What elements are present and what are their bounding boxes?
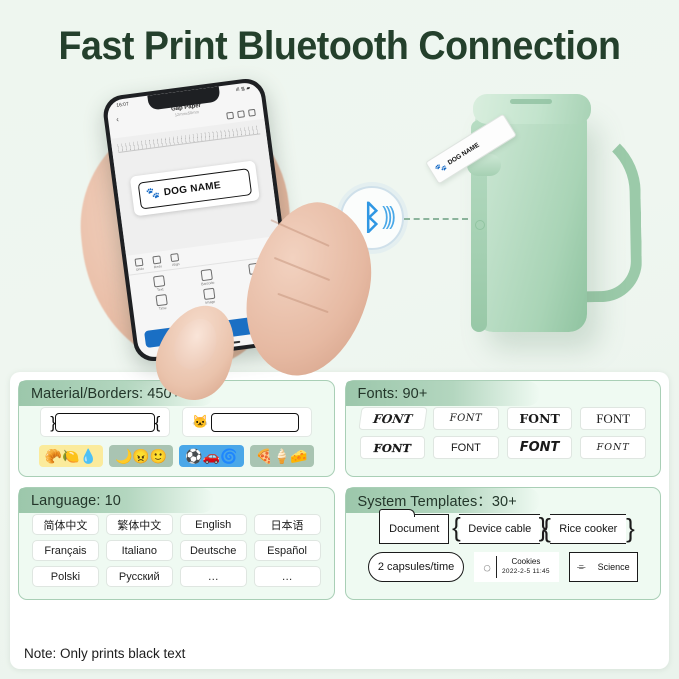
border-sample-row: } { 🐱 (29, 407, 324, 437)
swatch-emoji-sage[interactable]: 🌙😠🙂 (109, 445, 173, 467)
bluetooth-icon: ᛒ (362, 201, 382, 235)
undo-icon (135, 258, 144, 267)
tool-time[interactable]: Time (139, 292, 186, 314)
template-science[interactable]: ⌯ Science (569, 552, 638, 582)
language-chip[interactable]: Italiano (106, 540, 173, 561)
panel-header: Language: 10 (19, 488, 214, 513)
label-printer: 🐾 DOG NAME (455, 80, 675, 380)
language-chip[interactable]: 简体中文 (32, 514, 99, 535)
icon-swatch-row: 🥐🍋💧 🌙😠🙂 ⚽🚗🌀 🍕🍦🧀 (29, 445, 324, 467)
tool-image[interactable]: Image (186, 285, 233, 307)
template-rice-cooker[interactable]: Rice cooker (550, 514, 626, 544)
barcode-icon (201, 269, 213, 281)
cookies-date: 2022-2-5 11:45 (502, 568, 550, 577)
language-chip-more[interactable]: … (254, 566, 321, 587)
tool-text[interactable]: Text (136, 273, 183, 295)
tool-undo[interactable]: Undo (135, 258, 145, 272)
font-sample[interactable]: FONT (360, 436, 426, 459)
tool-label: Text (157, 287, 164, 292)
divider (496, 556, 497, 578)
page-title: Fast Print Bluetooth Connection (20, 24, 658, 69)
template-device-cable[interactable]: Device cable (459, 514, 540, 544)
settings-icon[interactable] (248, 109, 256, 117)
tool-label: Image (205, 300, 215, 305)
panel-header: System Templates：30+ (346, 488, 541, 513)
language-chip[interactable]: 日本语 (254, 514, 321, 535)
time-icon (155, 294, 167, 306)
panel-system-templates: System Templates：30+ Document Device cab… (345, 487, 662, 600)
redo-icon (153, 255, 162, 264)
features-grid: Material/Borders: 450+ } { 🐱 🥐🍋💧 � (18, 380, 661, 600)
tool-label: Align (172, 262, 180, 267)
language-chip[interactable]: Español (254, 540, 321, 561)
label-text: DOG NAME (163, 179, 221, 197)
template-document[interactable]: Document (379, 514, 449, 544)
tool-label: Barcode (201, 281, 215, 287)
panel-title: Material/Borders: 450+ (31, 386, 180, 402)
tool-label: Redo (154, 264, 163, 269)
science-label: Science (598, 562, 630, 572)
font-sample[interactable]: FONT (433, 436, 499, 459)
label-preview[interactable]: 🐾 DOG NAME (130, 160, 260, 216)
template-cookies[interactable]: ◌ Cookies 2022-2-5 11:45 (474, 552, 559, 582)
language-chip-more[interactable]: … (180, 566, 247, 587)
font-sample[interactable]: FONT (580, 436, 646, 459)
border-outline (55, 413, 155, 432)
align-icon (170, 253, 179, 262)
bluetooth-waves-icon: ))) (382, 202, 392, 231)
text-icon (153, 275, 165, 287)
tool-label: Time (159, 306, 167, 311)
tool-redo[interactable]: Redo (152, 255, 162, 269)
paw-print-icon: 🐾 (433, 160, 448, 175)
font-sample[interactable]: FONT (580, 407, 646, 430)
language-chip-grid: 简体中文 繁体中文 English 日本语 Français Italiano … (29, 514, 324, 587)
font-sample[interactable]: FONT (507, 436, 573, 459)
panel-header: Fonts: 90+ (346, 381, 541, 406)
test-tube-icon: ⌯ (577, 561, 586, 574)
template-row-2: 2 capsules/time ◌ Cookies 2022-2-5 11:45… (356, 552, 651, 582)
ribbon-end-right-icon: { (155, 414, 161, 431)
swatch-food-yellow[interactable]: 🥐🍋💧 (39, 445, 103, 467)
label-border: 🐾 DOG NAME (138, 168, 253, 209)
language-chip[interactable]: Polski (32, 566, 99, 587)
footnote: Note: Only prints black text (24, 646, 185, 661)
cat-face-icon: 🐱 (192, 414, 208, 430)
image-icon (203, 288, 215, 300)
template-capsules[interactable]: 2 capsules/time (368, 552, 464, 582)
product-infographic: Fast Print Bluetooth Connection 16:07 ıl… (0, 0, 679, 679)
language-chip[interactable]: Français (32, 540, 99, 561)
features-card: Material/Borders: 450+ } { 🐱 🥐🍋💧 � (10, 372, 669, 669)
cookie-icon: ◌ (483, 560, 491, 575)
hero-scene: 16:07 ıll ᯾ ▰ ‹ Gap Paper 12mmx50mm (0, 72, 679, 372)
tool-label: Undo (136, 267, 145, 272)
template-row-1: Document Device cable Rice cooker (356, 514, 651, 544)
tool-barcode[interactable]: Barcode (184, 267, 231, 289)
font-sample[interactable]: FONT (358, 407, 427, 430)
cookies-text: Cookies 2022-2-5 11:45 (502, 557, 550, 577)
panel-title: System Templates：30+ (358, 490, 517, 511)
ribbon-end-left-icon: } (50, 414, 56, 431)
swatch-toys-blue[interactable]: ⚽🚗🌀 (179, 445, 243, 467)
panel-language: Language: 10 简体中文 繁体中文 English 日本语 Franç… (18, 487, 335, 600)
language-chip[interactable]: English (180, 514, 247, 535)
paw-print-icon: 🐾 (146, 187, 161, 200)
language-chip[interactable]: 繁体中文 (106, 514, 173, 535)
panel-fonts: Fonts: 90+ FONT FONT FONT FONT FONT FONT… (345, 380, 662, 477)
border-sample-cat[interactable]: 🐱 (182, 407, 312, 437)
printer-paper-slot (510, 99, 552, 104)
language-chip[interactable]: Deutsche (180, 540, 247, 561)
share-icon[interactable] (226, 112, 234, 120)
cookies-name: Cookies (511, 557, 540, 568)
label-canvas[interactable]: 🐾 DOG NAME (111, 119, 280, 256)
swatch-snacks-sage[interactable]: 🍕🍦🧀 (250, 445, 314, 467)
printer-power-button[interactable] (475, 220, 485, 230)
save-icon[interactable] (237, 110, 245, 118)
font-sample[interactable]: FONT (433, 407, 499, 430)
font-sample[interactable]: FONT (507, 407, 573, 430)
panel-title: Language: 10 (31, 493, 121, 509)
panel-title: Fonts: 90+ (358, 386, 428, 402)
language-chip[interactable]: Русский (106, 566, 173, 587)
tool-align[interactable]: Align (170, 253, 180, 267)
border-sample-ribbon[interactable]: } { (40, 407, 170, 437)
font-sample-grid: FONT FONT FONT FONT FONT FONT FONT FONT (356, 407, 651, 459)
border-outline (211, 413, 299, 432)
